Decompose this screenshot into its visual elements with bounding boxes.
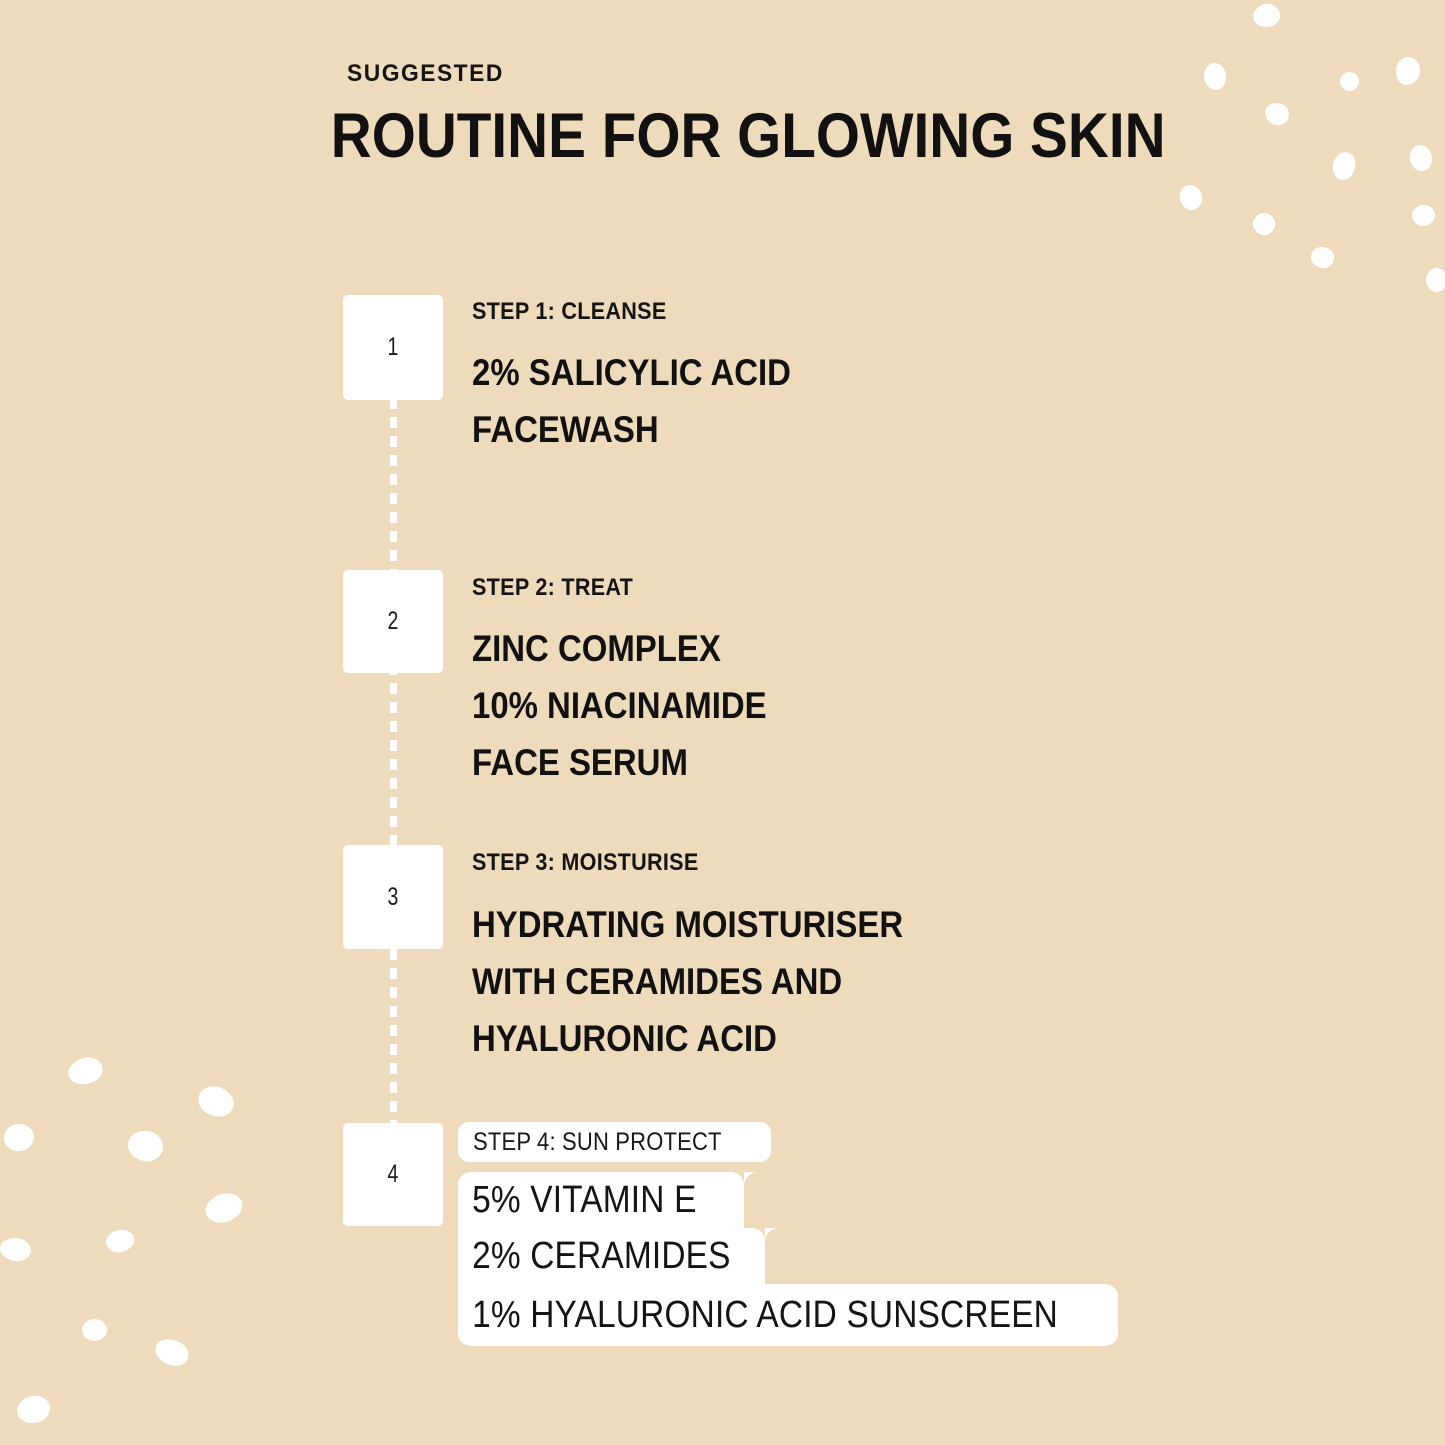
decorative-dot	[0, 1236, 32, 1263]
step-body-plates-4: 5% VITAMIN E 2% CERAMIDES 1% HYALURONIC …	[458, 1172, 1118, 1346]
decorative-dot	[1251, 1, 1283, 30]
decorative-dot	[1340, 72, 1359, 91]
decorative-dot	[2, 1122, 36, 1153]
header: SUGGESTED ROUTINE FOR GLOWING SKIN	[347, 62, 1274, 168]
step-number-1: 1	[388, 333, 399, 362]
step-number-badge-4: 4	[343, 1123, 443, 1226]
step-line: FACE SERUM	[472, 734, 767, 791]
decorative-dot	[15, 1393, 53, 1426]
step-body-2: ZINC COMPLEX 10% NIACINAMIDE FACE SERUM	[472, 620, 767, 791]
step-body-3: HYDRATING MOISTURISER WITH CERAMIDES AND…	[472, 896, 903, 1067]
decorative-dot	[65, 1054, 106, 1089]
infographic-canvas: SUGGESTED ROUTINE FOR GLOWING SKIN 1 STE…	[0, 0, 1445, 1445]
step-line: 2% SALICYLIC ACID	[472, 344, 791, 401]
decorative-dot	[1408, 143, 1435, 173]
step-block-2: STEP 2: TREAT ZINC COMPLEX 10% NIACINAMI…	[472, 576, 803, 791]
timeline-dashed-connector	[390, 398, 397, 1126]
plate-corner-notch	[744, 1172, 758, 1186]
decorative-dot	[194, 1081, 239, 1122]
step-line: 10% NIACINAMIDE	[472, 677, 767, 734]
step-number-badge-2: 2	[343, 570, 443, 673]
plate-corner-notch	[765, 1228, 779, 1242]
step-line: HYALURONIC ACID	[472, 1010, 903, 1067]
decorative-dot	[1426, 268, 1445, 292]
step-label-3: STEP 3: MOISTURISE	[472, 851, 908, 875]
step-line: FACEWASH	[472, 401, 791, 458]
step-line: ZINC COMPLEX	[472, 620, 767, 677]
page-title: ROUTINE FOR GLOWING SKIN	[331, 105, 1166, 168]
step-block-1: STEP 1: CLEANSE 2% SALICYLIC ACID FACEWA…	[472, 300, 830, 458]
decorative-dot	[1394, 55, 1422, 87]
step-number-2: 2	[388, 607, 399, 636]
decorative-dot	[1177, 182, 1206, 213]
decorative-dot	[1309, 245, 1336, 271]
decorative-dot	[201, 1188, 246, 1227]
decorative-dot	[1330, 150, 1357, 182]
decorative-dot	[82, 1319, 107, 1341]
step-line: 1% HYALURONIC ACID SUNSCREEN	[458, 1294, 1058, 1337]
decorative-dot	[104, 1227, 136, 1255]
decorative-dot	[1250, 210, 1278, 238]
step-body-1: 2% SALICYLIC ACID FACEWASH	[472, 344, 791, 458]
decorative-dot	[125, 1128, 165, 1165]
step-number-4: 4	[388, 1160, 399, 1189]
step-line: 5% VITAMIN E	[458, 1179, 697, 1222]
step-line-plate: 2% CERAMIDES	[458, 1228, 765, 1284]
step-block-3: STEP 3: MOISTURISE HYDRATING MOISTURISER…	[472, 851, 956, 1067]
step-number-3: 3	[388, 883, 399, 912]
step-number-badge-3: 3	[343, 845, 443, 949]
step-label-4: STEP 4: SUN PROTECT	[473, 1128, 722, 1157]
decorative-dot	[1411, 204, 1436, 227]
step-label-plate-4: STEP 4: SUN PROTECT	[458, 1122, 771, 1162]
step-number-badge-1: 1	[343, 295, 443, 400]
step-line-plate: 1% HYALURONIC ACID SUNSCREEN	[458, 1284, 1118, 1346]
step-label-1: STEP 1: CLEANSE	[472, 300, 795, 324]
kicker-label: SUGGESTED	[347, 62, 1228, 86]
step-line: 2% CERAMIDES	[458, 1235, 731, 1278]
decorative-dot	[152, 1335, 193, 1371]
step-label-2: STEP 2: TREAT	[472, 576, 770, 600]
step-line: HYDRATING MOISTURISER	[472, 896, 903, 953]
step-line: WITH CERAMIDES AND	[472, 953, 903, 1010]
step-line-plate: 5% VITAMIN E	[458, 1172, 744, 1228]
